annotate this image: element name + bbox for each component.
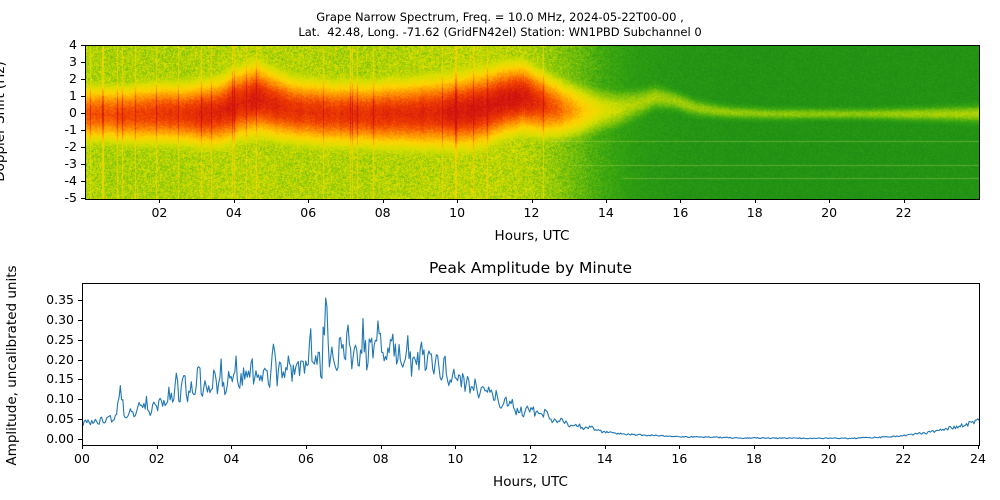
- amplitude-x-tick-label: 14: [585, 451, 625, 466]
- figure-title: Grape Narrow Spectrum, Freq. = 10.0 MHz,…: [0, 10, 1000, 40]
- amplitude-y-axis-label: Amplitude, uncalibrated units: [4, 258, 24, 473]
- amplitude-x-tick-mark: [381, 445, 382, 449]
- spectrogram-x-tick-mark: [606, 199, 607, 203]
- amplitude-y-tick-mark: [78, 360, 82, 361]
- spectrogram-y-tick-mark: [81, 62, 85, 63]
- amplitude-x-tick-label: 02: [137, 451, 177, 466]
- amplitude-x-tick-mark: [157, 445, 158, 449]
- title-line-1: Grape Narrow Spectrum, Freq. = 10.0 MHz,…: [0, 10, 1000, 25]
- amplitude-y-tick-mark: [78, 399, 82, 400]
- title-line-2: Lat. 42.48, Long. -71.62 (GridFN42el) St…: [0, 25, 1000, 40]
- amplitude-y-tick-label: 0.30: [38, 312, 74, 327]
- spectrogram-y-axis-label: Doppler Shift (Hz): [0, 45, 12, 198]
- amplitude-x-tick-mark: [82, 445, 83, 449]
- amplitude-plot-area: [82, 283, 980, 446]
- spectrogram-x-tick-label: 16: [660, 205, 700, 220]
- spectrogram-x-tick-mark: [308, 199, 309, 203]
- amplitude-y-tick-mark: [78, 320, 82, 321]
- spectrogram-y-tick-label: 0: [41, 105, 77, 120]
- spectrogram-y-tick-label: 3: [41, 54, 77, 69]
- amplitude-x-tick-mark: [679, 445, 680, 449]
- amplitude-x-tick-mark: [829, 445, 830, 449]
- amplitude-series-line: [83, 298, 979, 439]
- spectrogram-image: [86, 46, 979, 199]
- spectrogram-x-tick-label: 12: [512, 205, 552, 220]
- spectrogram-y-tick-mark: [81, 96, 85, 97]
- amplitude-y-tick-label: 0.00: [38, 431, 74, 446]
- amplitude-y-tick-label: 0.10: [38, 391, 74, 406]
- amplitude-y-tick-label: 0.35: [38, 292, 74, 307]
- amplitude-y-tick-mark: [78, 379, 82, 380]
- spectrogram-x-tick-mark: [383, 199, 384, 203]
- amplitude-x-tick-label: 24: [958, 451, 998, 466]
- amplitude-plot-title: Peak Amplitude by Minute: [82, 259, 979, 277]
- spectrogram-x-tick-mark: [159, 199, 160, 203]
- spectrogram-x-tick-label: 18: [735, 205, 775, 220]
- figure-canvas: Grape Narrow Spectrum, Freq. = 10.0 MHz,…: [0, 0, 1000, 500]
- amplitude-x-tick-mark: [455, 445, 456, 449]
- amplitude-x-tick-label: 06: [286, 451, 326, 466]
- amplitude-line-chart: [83, 284, 979, 445]
- spectrogram-x-tick-mark: [457, 199, 458, 203]
- amplitude-y-tick-label: 0.25: [38, 332, 74, 347]
- amplitude-x-tick-label: 16: [659, 451, 699, 466]
- spectrogram-x-tick-mark: [234, 199, 235, 203]
- spectrogram-x-tick-label: 22: [884, 205, 924, 220]
- spectrogram-x-tick-mark: [904, 199, 905, 203]
- spectrogram-y-tick-mark: [81, 164, 85, 165]
- spectrogram-y-tick-mark: [81, 79, 85, 80]
- amplitude-x-tick-mark: [530, 445, 531, 449]
- amplitude-y-tick-mark: [78, 340, 82, 341]
- amplitude-x-tick-label: 08: [361, 451, 401, 466]
- amplitude-x-tick-label: 22: [883, 451, 923, 466]
- spectrogram-y-tick-mark: [81, 45, 85, 46]
- spectrogram-y-tick-label: 1: [41, 88, 77, 103]
- amplitude-y-tick-label: 0.05: [38, 411, 74, 426]
- amplitude-x-tick-label: 20: [809, 451, 849, 466]
- spectrogram-x-tick-mark: [755, 199, 756, 203]
- spectrogram-y-tick-label: 2: [41, 71, 77, 86]
- amplitude-y-tick-mark: [78, 439, 82, 440]
- spectrogram-x-tick-label: 08: [363, 205, 403, 220]
- amplitude-x-tick-label: 18: [734, 451, 774, 466]
- spectrogram-x-tick-label: 10: [437, 205, 477, 220]
- spectrogram-y-tick-mark: [81, 130, 85, 131]
- amplitude-x-tick-mark: [605, 445, 606, 449]
- amplitude-x-tick-label: 00: [62, 451, 102, 466]
- spectrogram-x-tick-label: 02: [139, 205, 179, 220]
- amplitude-x-tick-mark: [754, 445, 755, 449]
- spectrogram-x-tick-label: 06: [288, 205, 328, 220]
- amplitude-x-tick-label: 10: [435, 451, 475, 466]
- spectrogram-y-tick-mark: [81, 181, 85, 182]
- spectrogram-x-tick-label: 14: [586, 205, 626, 220]
- spectrogram-x-tick-label: 20: [809, 205, 849, 220]
- amplitude-y-tick-mark: [78, 419, 82, 420]
- spectrogram-y-tick-mark: [81, 113, 85, 114]
- spectrogram-y-tick-label: -1: [41, 122, 77, 137]
- amplitude-x-tick-mark: [978, 445, 979, 449]
- spectrogram-y-tick-label: -4: [41, 173, 77, 188]
- amplitude-x-tick-mark: [306, 445, 307, 449]
- spectrogram-y-tick-label: 4: [41, 37, 77, 52]
- spectrogram-y-tick-mark: [81, 147, 85, 148]
- spectrogram-x-tick-mark: [532, 199, 533, 203]
- amplitude-x-tick-label: 12: [510, 451, 550, 466]
- spectrogram-x-axis-label: Hours, UTC: [85, 228, 979, 244]
- amplitude-y-tick-label: 0.20: [38, 352, 74, 367]
- spectrogram-y-tick-mark: [81, 198, 85, 199]
- amplitude-y-tick-mark: [78, 300, 82, 301]
- spectrogram-x-tick-mark: [680, 199, 681, 203]
- spectrogram-y-tick-label: -5: [41, 190, 77, 205]
- amplitude-x-tick-label: 04: [211, 451, 251, 466]
- spectrogram-y-tick-label: -2: [41, 139, 77, 154]
- spectrogram-plot-area: [85, 45, 980, 200]
- spectrogram-x-tick-label: 04: [214, 205, 254, 220]
- amplitude-y-tick-label: 0.15: [38, 371, 74, 386]
- amplitude-x-tick-mark: [903, 445, 904, 449]
- spectrogram-y-tick-label: -3: [41, 156, 77, 171]
- amplitude-x-axis-label: Hours, UTC: [82, 474, 979, 490]
- spectrogram-x-tick-mark: [829, 199, 830, 203]
- amplitude-x-tick-mark: [231, 445, 232, 449]
